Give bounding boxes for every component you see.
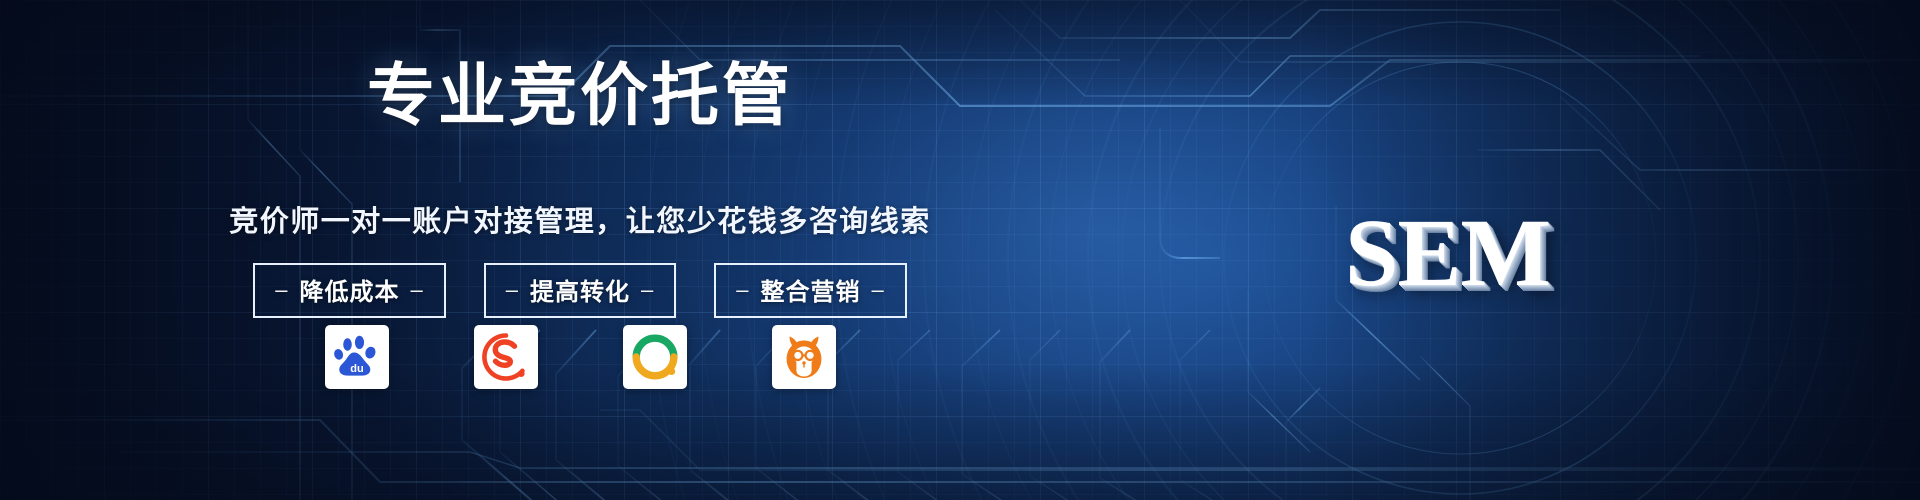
feature-tag-label: 提高转化 [530,272,630,307]
platform-logo-tile-sogou[interactable] [474,325,538,389]
svg-text:du: du [350,363,363,375]
so360-logo-icon [630,332,680,382]
feature-tag-label: 降低成本 [300,272,400,307]
shenma-logo-icon [779,332,829,382]
feature-tag-conversion[interactable]: – 提高转化 – [484,263,677,318]
baidu-logo-icon: du [332,332,382,382]
platform-logo-list: du [0,325,1160,389]
sogou-logo-icon [481,332,531,382]
feature-tag-cost-reduction[interactable]: – 降低成本 – [253,263,446,318]
feature-tag-list: – 降低成本 – – 提高转化 – – 整合营销 – [0,263,1160,318]
platform-logo-tile-baidu[interactable]: du [325,325,389,389]
banner-subtitle: 竞价师一对一账户对接管理，让您少花钱多咨询线索 [0,198,1160,240]
dash-left-icon: – [506,277,519,303]
banner-title: 专业竞价托管 [0,62,1160,130]
feature-tag-integrated-marketing[interactable]: – 整合营销 – [714,263,907,318]
feature-tag-label: 整合营销 [761,272,861,307]
dash-left-icon: – [736,277,749,303]
sem-wordmark: SEM [1345,205,1550,301]
dash-left-icon: – [275,277,288,303]
dash-right-icon: – [872,277,885,303]
banner-content: 专业竞价托管 竞价师一对一账户对接管理，让您少花钱多咨询线索 – 降低成本 – … [0,0,1920,500]
dash-right-icon: – [411,277,424,303]
dash-right-icon: – [641,277,654,303]
sem-promo-banner: 专业竞价托管 竞价师一对一账户对接管理，让您少花钱多咨询线索 – 降低成本 – … [0,0,1920,500]
platform-logo-tile-shenma[interactable] [772,325,836,389]
platform-logo-tile-360[interactable] [623,325,687,389]
